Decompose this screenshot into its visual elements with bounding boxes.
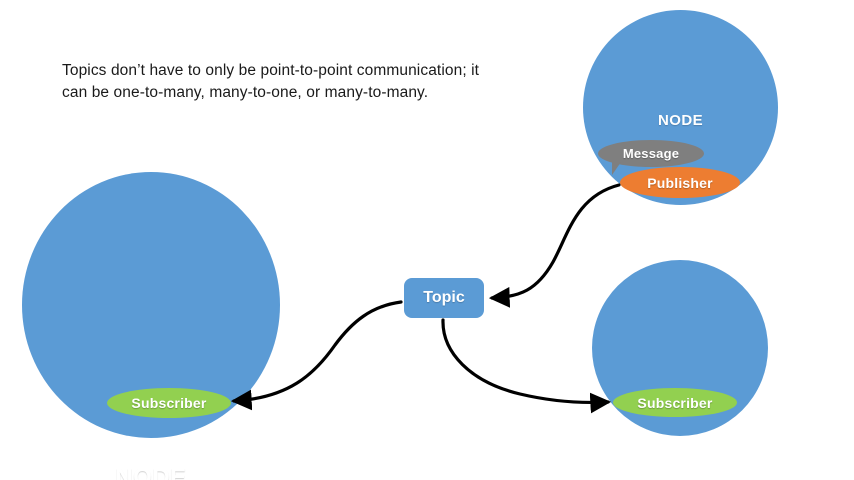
message-label: Message: [623, 146, 679, 161]
node-label: NODE: [583, 112, 778, 129]
connector-publisher-to-topic: [492, 185, 619, 298]
diagram-canvas: Topics don’t have to only be point-to-po…: [0, 0, 854, 480]
subscriber-label: Subscriber: [637, 395, 712, 411]
publisher-label: Publisher: [647, 175, 713, 191]
topic-label: Topic: [423, 289, 464, 307]
subscriber-endpoint-right[interactable]: Subscriber: [613, 388, 737, 417]
message-callout-tail: [612, 162, 626, 175]
publisher-endpoint[interactable]: Publisher: [620, 167, 740, 198]
connector-topic-to-subscriber-right: [443, 320, 608, 402]
topic-box[interactable]: Topic: [404, 278, 484, 318]
subscriber-endpoint-left[interactable]: Subscriber: [107, 388, 231, 418]
node-label: NODE: [22, 464, 280, 480]
caption-text: Topics don’t have to only be point-to-po…: [62, 60, 482, 105]
subscriber-label: Subscriber: [131, 395, 206, 411]
